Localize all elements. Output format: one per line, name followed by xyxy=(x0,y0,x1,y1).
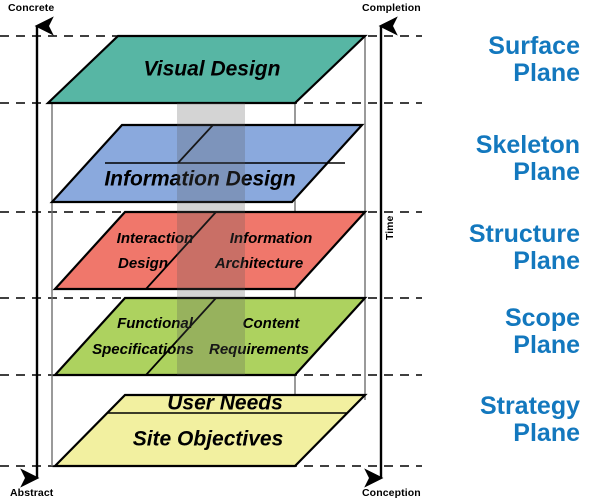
legend-surface-line-2: Plane xyxy=(488,60,580,87)
legend-item-skeleton-plane[interactable]: Skeleton Plane xyxy=(476,132,580,185)
legend-surface-line-1: Surface xyxy=(488,33,580,60)
legend-item-strategy-plane[interactable]: Strategy Plane xyxy=(480,393,580,446)
legend-skeleton-line-2: Plane xyxy=(476,159,580,186)
plane-surface-cell-1-line-1: Visual Design xyxy=(144,58,281,81)
legend-item-scope-plane[interactable]: Scope Plane xyxy=(505,305,580,358)
legend-item-surface-plane[interactable]: Surface Plane xyxy=(488,33,580,86)
focus-band xyxy=(177,103,245,375)
legend-strategy-line-1: Strategy xyxy=(480,393,580,420)
plane-strategy-cell-2-line-1: Site Objectives xyxy=(133,428,284,451)
legend-scope-line-1: Scope xyxy=(505,305,580,332)
plane-strategy-cell-1-line-1: User Needs xyxy=(167,392,283,415)
legend-strategy-line-2: Plane xyxy=(480,420,580,447)
axis-label-time: Time xyxy=(384,216,396,240)
plane-scope-cell-2-line-1: Content xyxy=(243,315,301,332)
plane-strategy[interactable]: User Needs Site Objectives xyxy=(55,392,365,466)
diagram-canvas: User Needs Site Objectives Functional Sp… xyxy=(0,0,600,503)
legend-item-structure-plane[interactable]: Structure Plane xyxy=(469,221,580,274)
plane-surface[interactable]: Visual Design xyxy=(48,36,365,103)
plane-legend: Surface Plane Skeleton Plane Structure P… xyxy=(420,0,590,503)
axis-label-completion: Completion xyxy=(362,2,421,14)
axis-label-concrete: Concrete xyxy=(8,2,54,14)
legend-structure-line-1: Structure xyxy=(469,221,580,248)
legend-skeleton-line-1: Skeleton xyxy=(476,132,580,159)
legend-structure-line-2: Plane xyxy=(469,248,580,275)
legend-scope-line-2: Plane xyxy=(505,332,580,359)
axis-label-abstract: Abstract xyxy=(10,487,53,499)
axis-label-conception: Conception xyxy=(362,487,421,499)
plane-structure-cell-1-line-2: Design xyxy=(118,255,168,272)
